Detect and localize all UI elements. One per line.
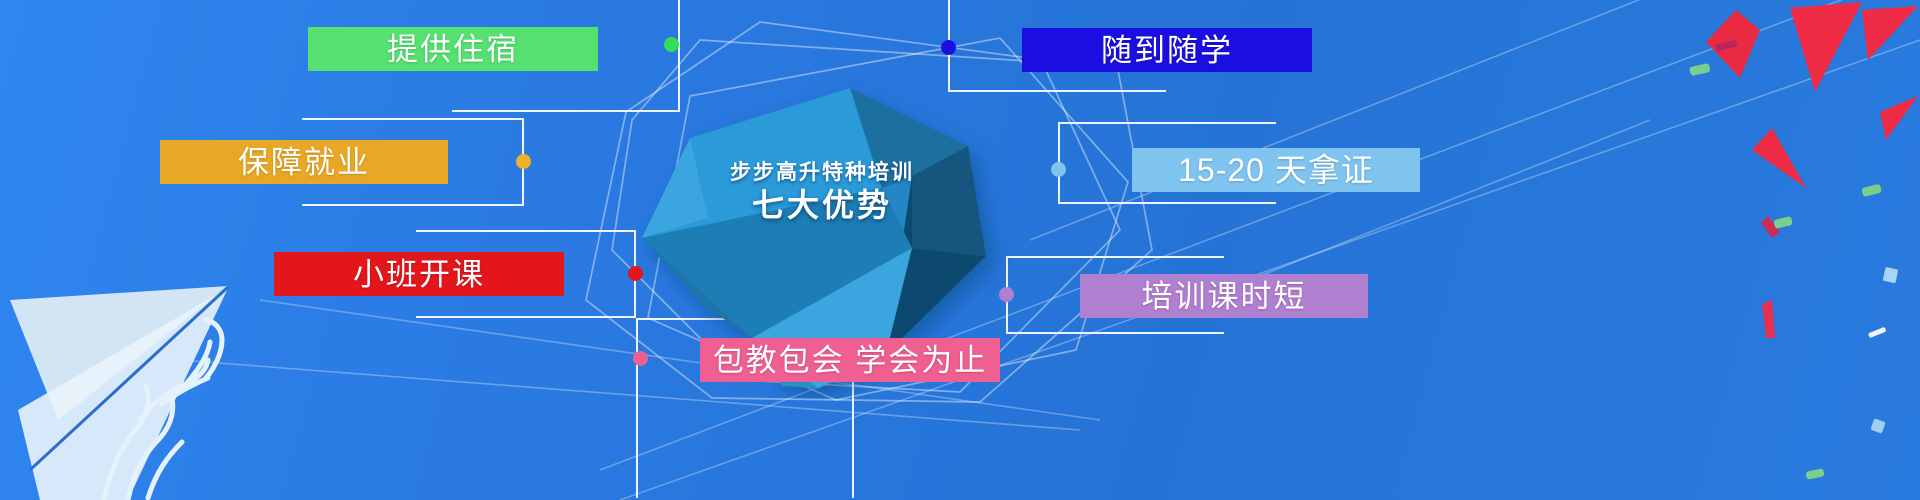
infographic-banner: 步步高升特种培训 七大优势 提供住宿 保障就业 小班开课 包教包会 学会为止 随… — [0, 0, 1920, 500]
advantage-chip-guaranteed-learning[interactable]: 包教包会 学会为止 — [700, 338, 1000, 382]
connector-dot-employment — [516, 154, 531, 169]
connector-dot-guaranteed-learning — [633, 351, 648, 366]
connector-dot-flexible-start — [941, 40, 956, 55]
advantage-chip-accommodation[interactable]: 提供住宿 — [308, 27, 598, 71]
advantage-chip-short-course[interactable]: 培训课时短 — [1080, 274, 1368, 318]
paper-plane-icon — [10, 286, 228, 500]
advantage-chip-employment[interactable]: 保障就业 — [160, 140, 448, 184]
connector-dot-fast-certificate — [1051, 162, 1066, 177]
connector-dot-short-course — [999, 287, 1014, 302]
advantage-chip-flexible-start[interactable]: 随到随学 — [1022, 28, 1312, 72]
advantage-chip-fast-certificate[interactable]: 15-20 天拿证 — [1132, 148, 1420, 192]
confetti-small-bits — [1689, 63, 1898, 480]
connector-dot-accommodation — [664, 37, 679, 52]
connector-dot-small-class — [628, 266, 643, 281]
advantage-chip-small-class[interactable]: 小班开课 — [274, 252, 564, 296]
